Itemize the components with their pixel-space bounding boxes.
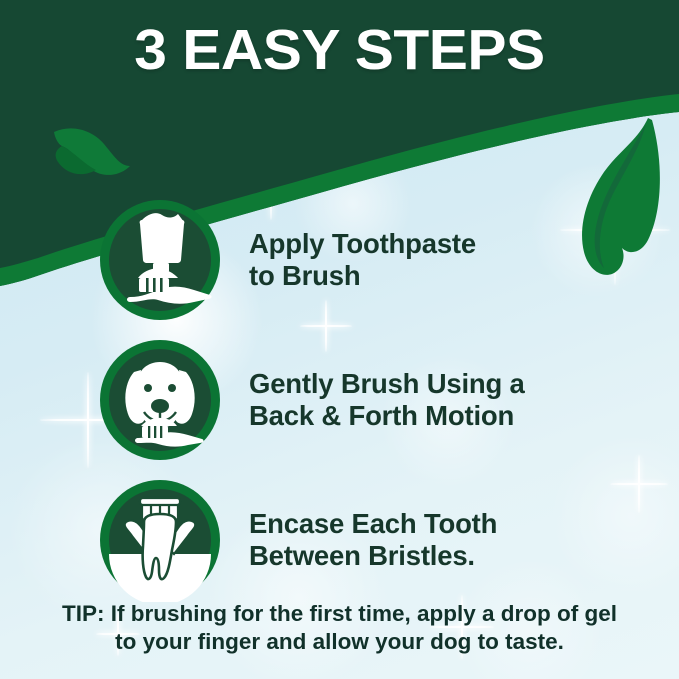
step-item: Encase Each Tooth Between Bristles. (0, 470, 679, 610)
step-badge (98, 478, 222, 602)
steps-list: Apply Toothpaste to Brush (0, 190, 679, 610)
step-item: Gently Brush Using a Back & Forth Motion (0, 330, 679, 470)
page-title: 3 EASY STEPS (0, 22, 679, 79)
step-label-line1: Gently Brush Using a (249, 368, 525, 400)
step-label: Apply Toothpaste to Brush (249, 228, 476, 292)
tip-text: TIP: If brushing for the first time, app… (0, 600, 679, 657)
step-label: Gently Brush Using a Back & Forth Motion (249, 368, 525, 432)
step-badge (98, 338, 222, 462)
step-label-line1: Apply Toothpaste (249, 228, 476, 260)
step-label-line2: Back & Forth Motion (249, 400, 525, 432)
step-label-line2: Between Bristles. (249, 540, 497, 572)
step-label-line1: Encase Each Tooth (249, 508, 497, 540)
poster: 3 EASY STEPS (0, 0, 679, 679)
step-label: Encase Each Tooth Between Bristles. (249, 508, 497, 572)
tip-line1: TIP: If brushing for the first time, app… (0, 600, 679, 629)
step-label-line2: to Brush (249, 260, 476, 292)
step-item: Apply Toothpaste to Brush (0, 190, 679, 330)
step-badge (98, 198, 222, 322)
tip-line2: to your finger and allow your dog to tas… (0, 628, 679, 657)
